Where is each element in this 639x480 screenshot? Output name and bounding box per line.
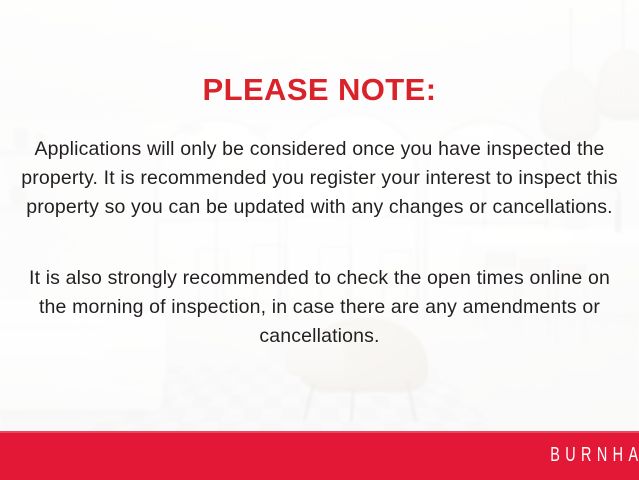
page-title: PLEASE NOTE:: [0, 74, 639, 105]
slide-content: PLEASE NOTE: Applications will only be c…: [0, 0, 639, 480]
notice-paragraph-1: Applications will only be considered onc…: [14, 135, 625, 222]
please-note-slide: PLEASE NOTE: Applications will only be c…: [0, 0, 639, 480]
footer-top-edge: [0, 431, 639, 433]
notice-paragraph-2: It is also strongly recommended to check…: [14, 264, 625, 351]
footer-bar: BURNHA: [0, 431, 639, 480]
brand-logo-text: BURNHA: [550, 444, 639, 467]
